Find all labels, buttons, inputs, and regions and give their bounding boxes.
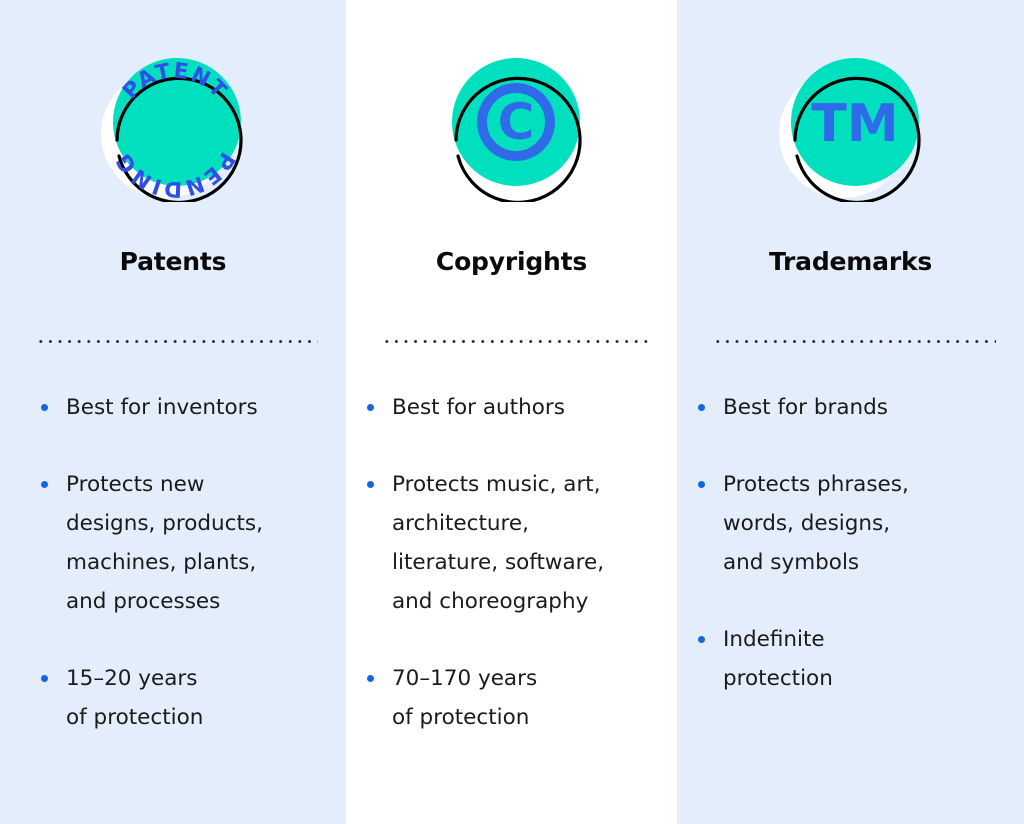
bullet-dot-icon [367,481,374,488]
bullet-list-trademarks: Best for brands Protects phrases, words,… [677,388,1024,698]
bullet-dot-icon [698,636,705,643]
column-trademarks: TM Trademarks Best for brands Protects p… [677,0,1024,824]
list-item: Protects new designs, products, machines… [38,465,328,621]
trademark-symbol-icon: TM [771,52,931,202]
bullet-list-patents: Best for inventors Protects new designs,… [0,388,346,737]
list-item: Best for brands [695,388,1008,427]
patent-pending-badge-icon: PATENT PENDING [93,52,253,202]
copyrights-icon-wrap: C [346,0,677,245]
page-title-trademarks: Trademarks [677,247,1024,276]
patents-icon-wrap: PATENT PENDING [0,0,346,245]
ip-comparison-infographic: PATENT PENDING Patents Best for inventor… [0,0,1024,824]
list-item-text: 15–20 years of protection [66,659,328,737]
bullet-dot-icon [698,404,705,411]
bullet-dot-icon [367,404,374,411]
page-title-copyrights: Copyrights [346,247,677,276]
bullet-dot-icon [41,481,48,488]
list-item-text: Protects music, art, architecture, liter… [392,465,659,621]
list-item: 15–20 years of protection [38,659,328,737]
list-item-text: Best for authors [392,388,659,427]
divider-trademarks [713,340,996,343]
list-item-text: Indefinite protection [723,620,1008,698]
trademark-glyph: TM [811,94,898,154]
list-item: Protects music, art, architecture, liter… [364,465,659,621]
bullet-dot-icon [41,675,48,682]
columns-container: PATENT PENDING Patents Best for inventor… [0,0,1024,824]
list-item: Indefinite protection [695,620,1008,698]
list-item: Best for inventors [38,388,328,427]
divider-copyrights [382,340,649,343]
list-item: Best for authors [364,388,659,427]
list-item-text: 70–170 years of protection [392,659,659,737]
bullet-list-copyrights: Best for authors Protects music, art, ar… [346,388,677,737]
bullet-dot-icon [367,675,374,682]
list-item-text: Protects new designs, products, machines… [66,465,328,621]
list-item: Protects phrases, words, designs, and sy… [695,465,1008,582]
copyright-symbol-icon: C [432,52,592,202]
column-copyrights: C Copyrights Best for authors Protects m… [346,0,677,824]
list-item: 70–170 years of protection [364,659,659,737]
trademarks-icon-wrap: TM [677,0,1024,245]
list-item-text: Best for inventors [66,388,328,427]
copyright-glyph: C [497,93,534,151]
divider-patents [36,340,318,343]
bullet-dot-icon [41,404,48,411]
bullet-dot-icon [698,481,705,488]
page-title-patents: Patents [0,247,346,276]
column-patents: PATENT PENDING Patents Best for inventor… [0,0,346,824]
list-item-text: Protects phrases, words, designs, and sy… [723,465,1008,582]
list-item-text: Best for brands [723,388,1008,427]
